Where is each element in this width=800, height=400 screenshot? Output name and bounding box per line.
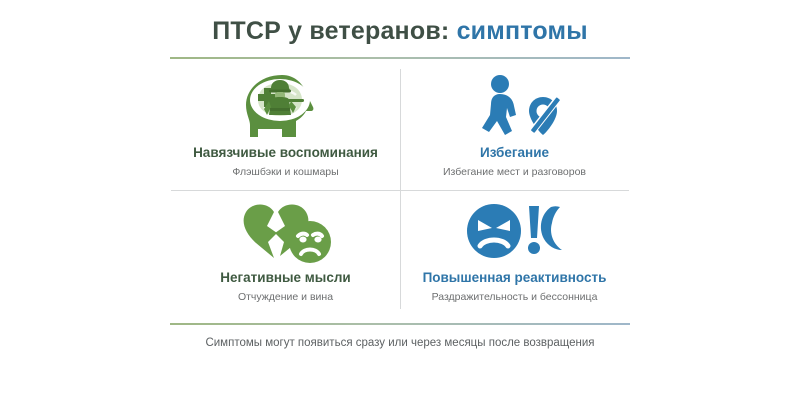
title-divider [170, 57, 630, 59]
title-block: ПТСР у ветеранов: симптомы [0, 18, 800, 59]
footer-divider [170, 323, 630, 325]
footer-note: Симптомы могут появиться сразу или через… [205, 337, 594, 349]
symptom-cell-hyperarousal: Повышенная реактивность Раздражительност… [400, 190, 629, 315]
symptom-title: Навязчивые воспоминания [193, 145, 378, 161]
infographic-poster: ПТСР у ветеранов: симптомы [0, 0, 800, 400]
symptom-subtitle: Отчуждение и вина [238, 291, 333, 304]
symptom-subtitle: Избегание мест и разговоров [443, 166, 586, 179]
symptom-cell-negative-thoughts: Негативные мысли Отчуждение и вина [171, 190, 400, 315]
page-title-accent: симптомы [457, 17, 588, 45]
symptom-title: Повышенная реактивность [423, 270, 607, 286]
page-title: ПТСР у ветеранов: симптомы [0, 18, 800, 46]
symptom-cell-intrusive-memories: Навязчивые воспоминания Флэшбэки и кошма… [171, 65, 400, 190]
symptom-cell-avoidance: Избегание Избегание мест и разговоров [400, 65, 629, 190]
page-title-main: ПТСР у ветеранов: [212, 17, 449, 45]
symptom-subtitle: Раздражительность и бессонница [432, 291, 598, 304]
walking-person-no-location-icon [467, 73, 563, 139]
symptom-grid: Навязчивые воспоминания Флэшбэки и кошма… [171, 65, 629, 315]
symptom-subtitle: Флэшбэки и кошмары [232, 166, 338, 179]
symptom-title: Избегание [480, 145, 549, 161]
symptom-title: Негативные мысли [220, 270, 350, 286]
broken-heart-sad-face-icon [234, 198, 338, 264]
head-brain-soldier-icon [238, 73, 334, 139]
angry-face-exclamation-moon-icon [463, 198, 567, 264]
